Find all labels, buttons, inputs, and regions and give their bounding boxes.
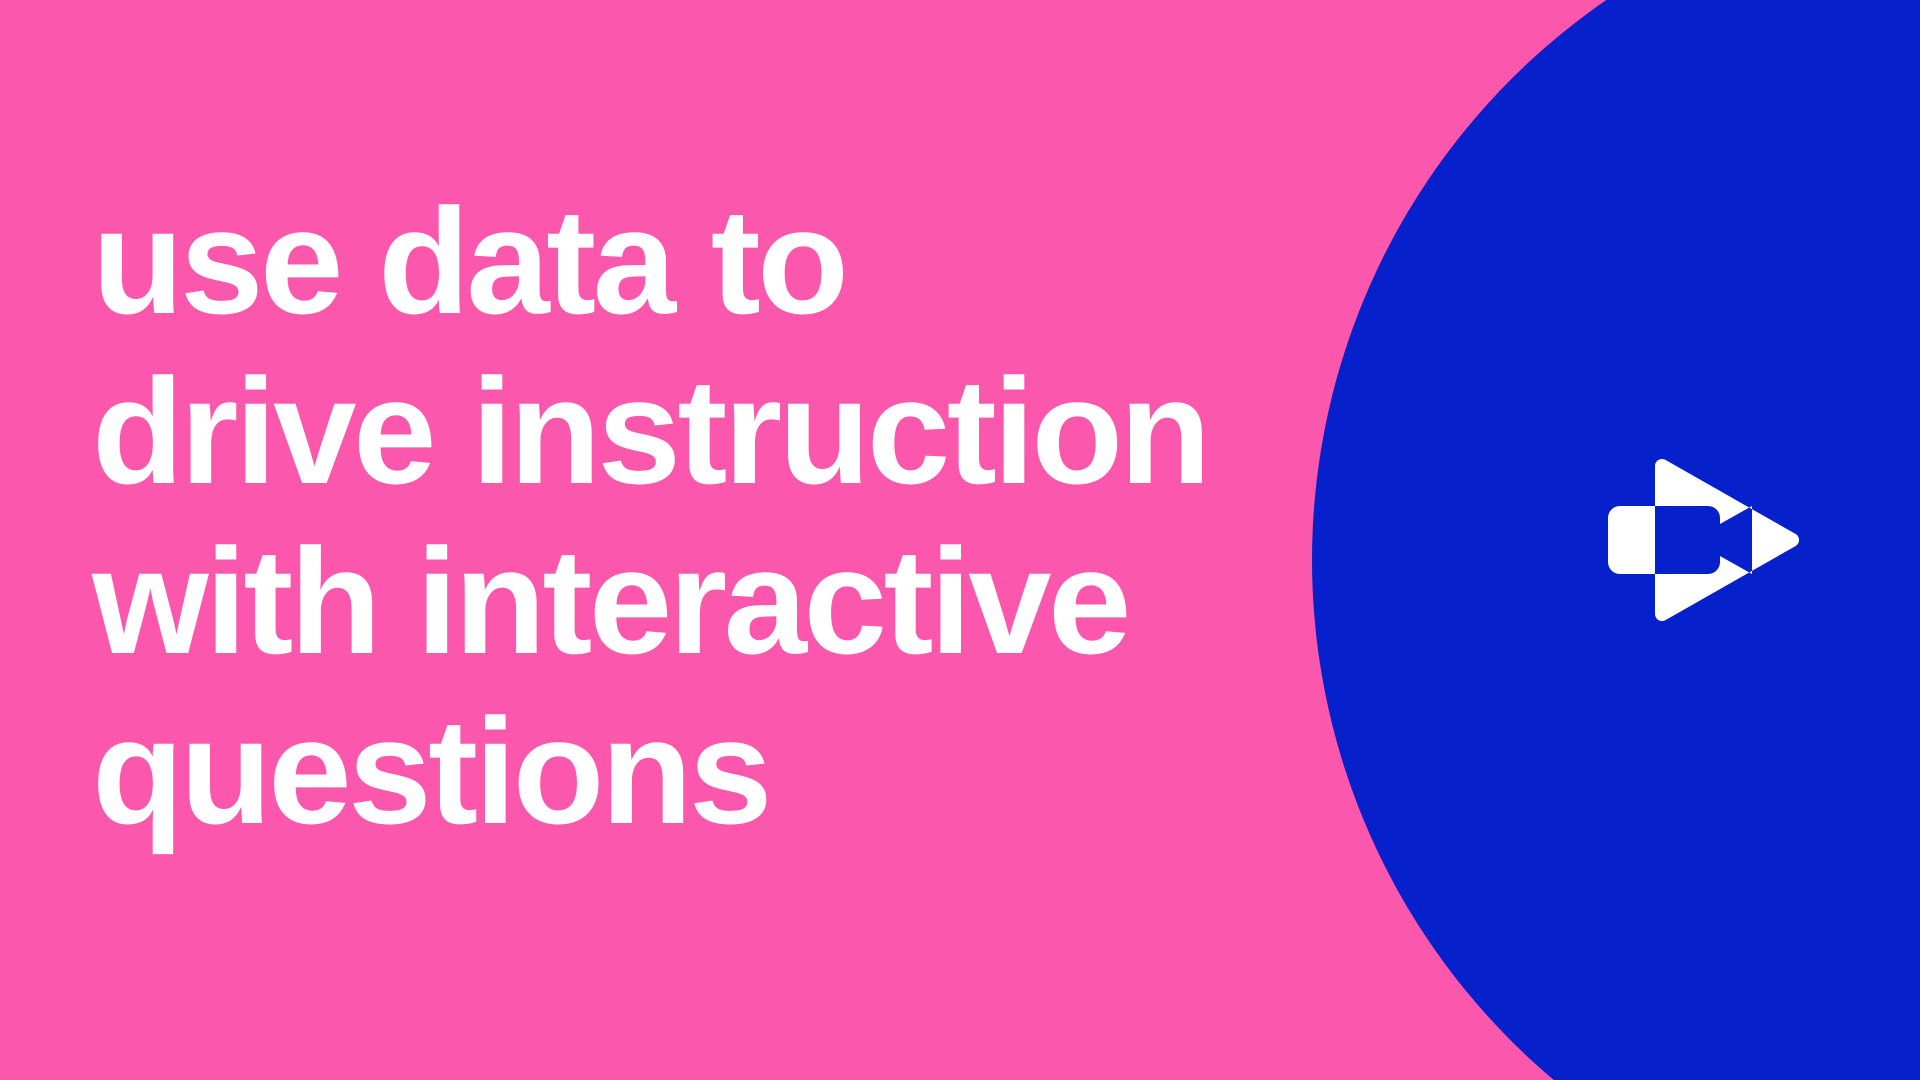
play-camera-icon xyxy=(1600,462,1800,618)
slide-canvas: use data to drive instruction with inter… xyxy=(0,0,1920,1080)
headline-block: use data to drive instruction with inter… xyxy=(92,176,1092,856)
headline-line-2: drive instruction xyxy=(92,346,1092,516)
headline-line-4: questions xyxy=(92,686,1092,856)
headline-line-3: with interactive xyxy=(92,516,1092,686)
headline-line-1: use data to xyxy=(92,176,1092,346)
brand-logo xyxy=(1600,462,1800,618)
